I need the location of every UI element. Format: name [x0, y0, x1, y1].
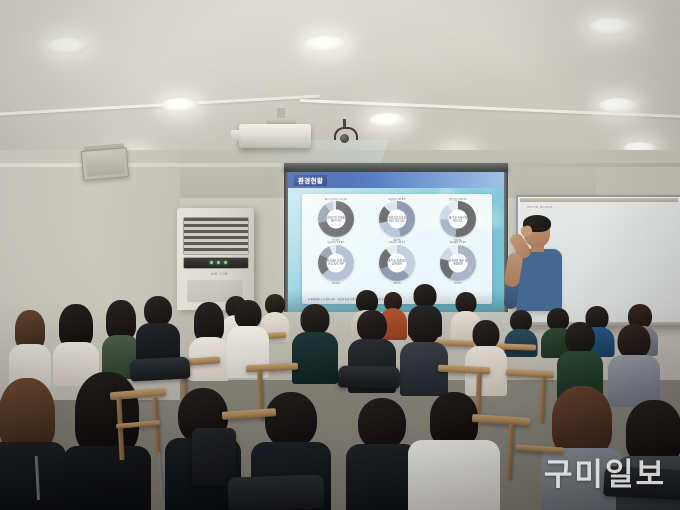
torso	[408, 440, 500, 510]
audience-member	[612, 324, 656, 404]
donut-center: 대기 및 수질오염 관심 정도	[449, 210, 468, 229]
slide-title: 환경현황	[298, 175, 323, 185]
chair-back	[603, 466, 680, 500]
audience-member-foreground	[0, 378, 60, 510]
whiteboard-brand-label: WHITE BOARD	[527, 205, 553, 209]
ceiling-downlight	[589, 18, 633, 35]
status-led-icon	[210, 261, 213, 264]
ceiling-downlight	[305, 36, 347, 52]
donut-callout: 만족한다 38.2%	[387, 241, 406, 245]
donut-chart: 관심 있다 52.4%대기 및 수질오염 관심 정도52.4%	[428, 198, 488, 241]
donut-center: 환경오염 심각성 체감 인지 정도	[388, 210, 407, 229]
tablet-arm-desk	[506, 369, 554, 379]
projector-front	[231, 130, 241, 141]
head	[301, 304, 330, 335]
lecture-hall-photo: WHITE BOARD AIR CON 환경현황 매우 심각하다 71.2%환경…	[0, 0, 680, 510]
projection-screen-housing	[284, 163, 508, 172]
donut-center-label: 대기 및 환경정보 공개 평가	[388, 260, 407, 266]
donut-center-label: 환경오염 문제에 대한 인식	[327, 216, 346, 222]
audience-member	[56, 304, 96, 378]
camera-dome-lens-icon	[340, 134, 349, 143]
donut-center: 환경오염 문제에 대한 인식	[327, 210, 346, 229]
torso	[292, 332, 338, 384]
head	[358, 398, 406, 450]
hair	[194, 302, 224, 342]
head	[144, 296, 172, 326]
head	[357, 310, 387, 342]
desk-leg	[152, 398, 160, 456]
ceiling-downlight	[599, 98, 637, 113]
head	[473, 320, 500, 349]
audience-member	[296, 304, 334, 382]
whiteboard-top-rail	[520, 198, 678, 202]
torso	[0, 442, 66, 510]
air-conditioner-display-panel	[183, 257, 249, 269]
hair	[0, 378, 55, 452]
donut-center-label: 환경개선 사업 필요성 동의 여부	[327, 260, 346, 266]
chair-back	[227, 474, 324, 510]
chair-leg	[158, 452, 164, 500]
status-led-icon	[224, 261, 227, 264]
head	[265, 392, 317, 448]
ceiling-downlight	[162, 98, 198, 112]
donut-center-label: 대기 및 수질오염 관심 정도	[449, 216, 468, 222]
ceiling-downlight	[369, 113, 406, 127]
donut-ring: 환경오염 문제에 대한 인식	[318, 201, 354, 237]
chair-back	[338, 365, 400, 388]
hair	[626, 400, 680, 464]
head	[565, 322, 595, 354]
donut-ring: 대기 및 수질오염 관심 정도	[440, 201, 476, 237]
donut-callout: 확대해야 57.6%	[448, 241, 467, 245]
audience-member	[404, 312, 444, 392]
hair	[430, 392, 478, 446]
audience-area	[0, 270, 680, 510]
donut-chart: 매우 심각하다 71.2%환경오염 문제에 대한 인식71.2%	[306, 198, 366, 241]
tablet-arm-desk	[246, 363, 298, 373]
donut-center-label: 환경관련 예산 및 재정지원	[449, 260, 468, 266]
desk-leg	[539, 377, 546, 423]
head	[409, 312, 440, 345]
wall-speaker-icon	[81, 147, 129, 181]
hair	[106, 300, 136, 340]
projector-icon	[239, 124, 311, 148]
status-led-icon	[217, 261, 220, 264]
audience-member-foreground	[352, 398, 412, 510]
desk-leg	[507, 424, 515, 480]
slide-title-box: 환경현황	[294, 175, 327, 186]
audience-member	[468, 320, 504, 394]
head	[235, 300, 262, 329]
backpack	[192, 428, 236, 486]
head	[618, 324, 651, 359]
donut-chart: 체감한다 46.8%환경오염 심각성 체감 인지 정도46.8%	[367, 198, 427, 241]
donut-callout: 필요하다 63.9%	[326, 241, 345, 245]
ceiling-downlight	[47, 38, 88, 54]
torso	[63, 446, 151, 510]
audience-member	[12, 310, 48, 380]
hair	[552, 386, 612, 456]
air-conditioner-grille	[183, 217, 249, 255]
donut-center-label: 환경오염 심각성 체감 인지 정도	[388, 216, 407, 222]
audience-member-foreground	[418, 392, 490, 510]
donut-ring: 환경오염 심각성 체감 인지 정도	[379, 201, 415, 237]
hair	[75, 372, 139, 456]
